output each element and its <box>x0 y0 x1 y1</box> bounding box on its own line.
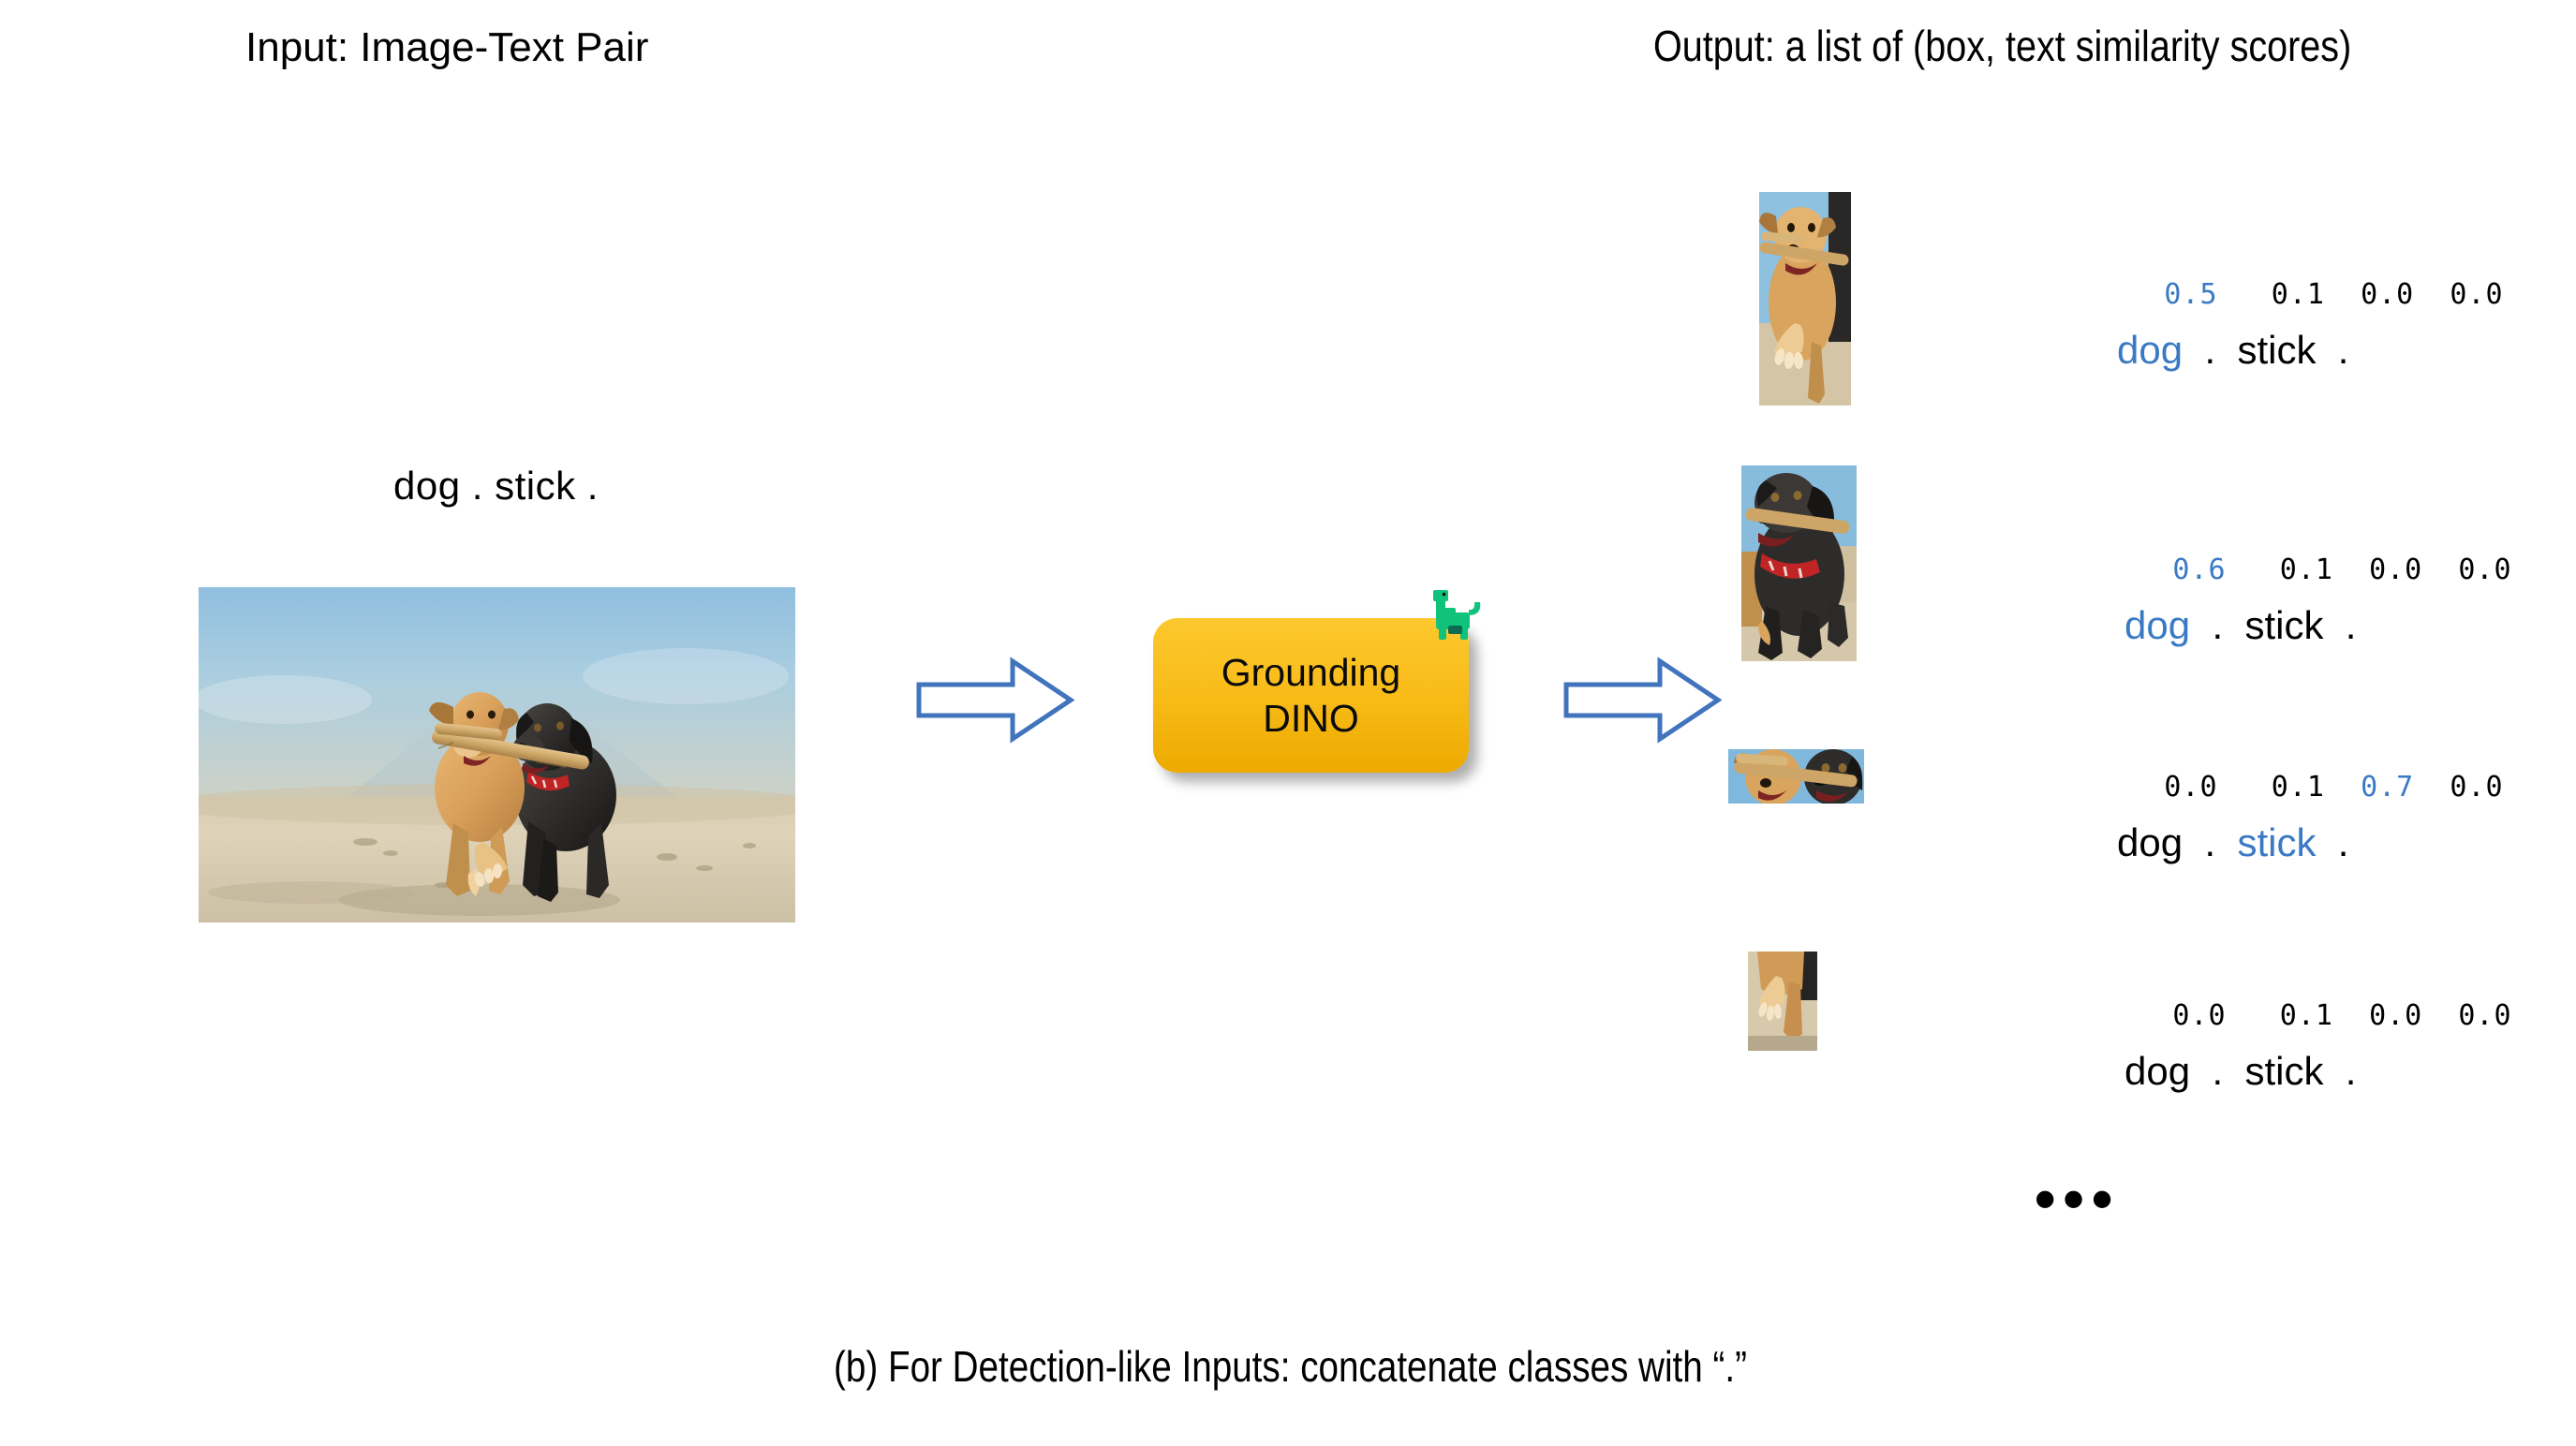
figure-caption: (b) For Detection-like Inputs: concatena… <box>834 1341 1747 1392</box>
figure-canvas: Input: Image-Text Pair Output: a list of… <box>0 0 2576 1446</box>
token: . <box>2346 603 2357 647</box>
dinosaur-glyph <box>1428 587 1486 642</box>
score-value: 0.0 <box>2369 553 2422 586</box>
dog-legs-crop-image <box>1748 952 1817 1051</box>
token: dog <box>2117 820 2183 864</box>
prompt-tokens: dog . stick . <box>2051 775 2348 910</box>
model-name-line1: Grounding <box>1221 650 1400 695</box>
score-value: 0.0 <box>2369 999 2422 1032</box>
token: . <box>2338 328 2349 372</box>
token: . <box>2346 1049 2357 1093</box>
black-dog-crop <box>1741 465 1857 661</box>
token: . <box>2212 1049 2223 1093</box>
input-image-illustration <box>199 587 795 922</box>
more-results-ellipsis: ••• <box>2035 1169 2120 1229</box>
arrow-input-to-model <box>915 656 1074 745</box>
token: stick <box>2244 603 2323 647</box>
grounding-dino-box[interactable]: Grounding DINO <box>1153 618 1469 773</box>
model-name-line2: DINO <box>1263 696 1359 741</box>
prompt-tokens: dog . stick . <box>2059 1004 2356 1139</box>
dog-legs-crop <box>1748 952 1817 1051</box>
tan-dog-crop <box>1759 192 1851 406</box>
prompt-tokens: dog . stick . <box>2051 283 2348 418</box>
arrow-right-icon <box>1562 656 1722 745</box>
stick-crop <box>1728 749 1864 804</box>
arrow-right-icon <box>915 656 1074 745</box>
input-image <box>199 587 795 922</box>
score-value: 0.7 <box>2361 771 2414 804</box>
tan-dog-crop-image <box>1759 192 1851 406</box>
token: . <box>2204 328 2215 372</box>
token: dog <box>2117 328 2183 372</box>
score-value: 0.0 <box>2458 553 2511 586</box>
score-value: 0.0 <box>2458 999 2511 1032</box>
stick-crop-image <box>1728 749 1864 804</box>
black-dog-crop-image <box>1741 465 1857 661</box>
token: stick <box>2237 328 2316 372</box>
output-header: Output: a list of (box, text similarity … <box>1653 21 2351 71</box>
input-header: Input: Image-Text Pair <box>245 24 648 71</box>
token: stick <box>2244 1049 2323 1093</box>
input-prompt-text: dog . stick . <box>393 464 599 509</box>
score-value: 0.0 <box>2450 771 2503 804</box>
token: . <box>2204 820 2215 864</box>
arrow-model-to-output <box>1562 656 1722 745</box>
prompt-tokens: dog . stick . <box>2059 558 2356 693</box>
score-value: 0.0 <box>2450 278 2503 311</box>
score-value: 0.0 <box>2361 278 2414 311</box>
token: stick <box>2237 820 2316 864</box>
dino-icon <box>1428 587 1486 642</box>
token: . <box>2338 820 2349 864</box>
token: dog <box>2124 603 2190 647</box>
token: dog <box>2124 1049 2190 1093</box>
token: . <box>2212 603 2223 647</box>
